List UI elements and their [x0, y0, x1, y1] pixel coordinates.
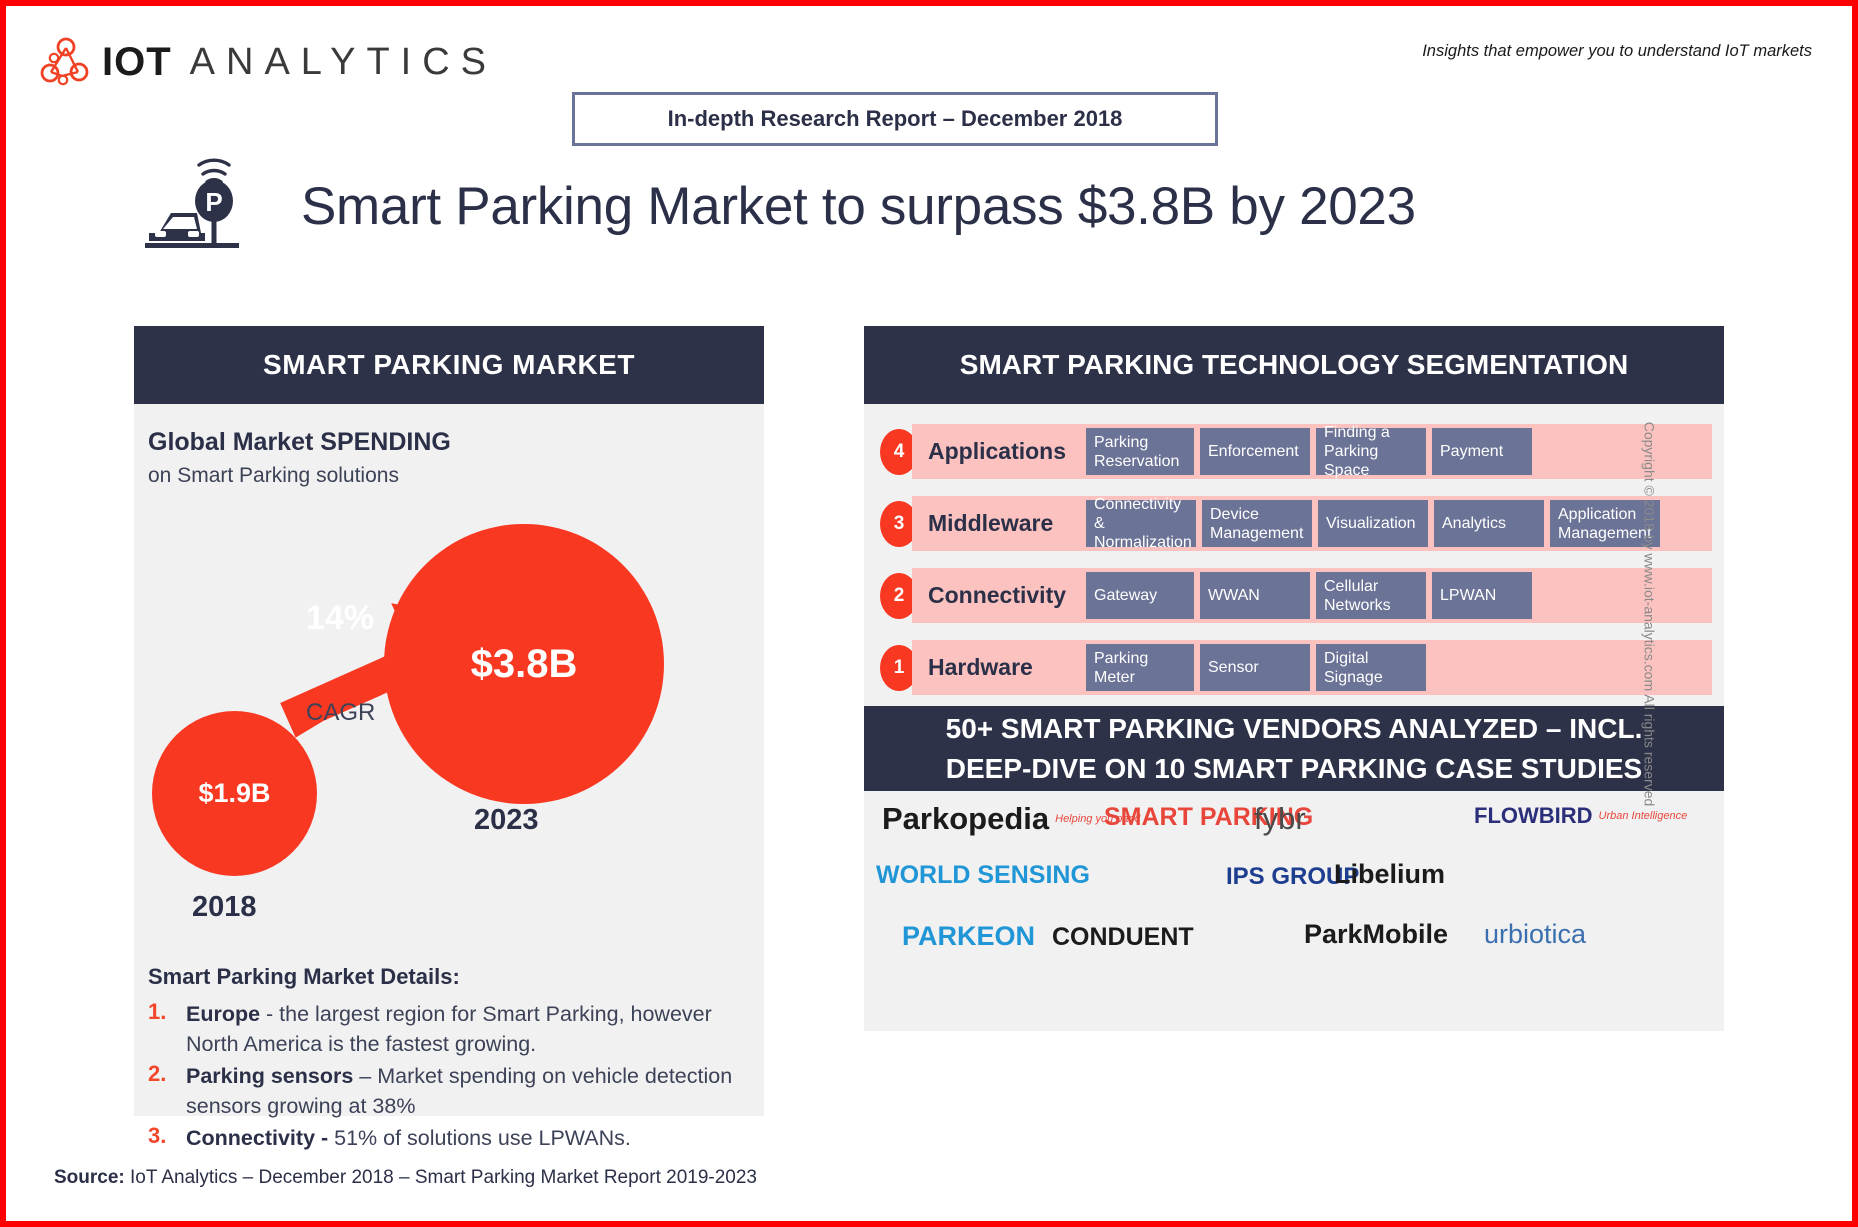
vendor-logo-grid: ParkopediaHelping you park!SMART PARKING…	[864, 791, 1724, 1031]
source-note: Source: IoT Analytics – December 2018 – …	[54, 1167, 757, 1189]
vendors-heading-line2: DEEP-DIVE ON 10 SMART PARKING CASE STUDI…	[946, 749, 1642, 789]
source-label: Source:	[54, 1167, 125, 1188]
report-badge: In-depth Research Report – December 2018	[572, 92, 1218, 146]
technology-chip[interactable]: Finding a Parking Space	[1316, 428, 1426, 475]
layer-name: Connectivity	[912, 582, 1086, 609]
vendor-logo: WORLD SENSING	[876, 861, 1090, 890]
vendor-logo: urbiotica	[1484, 919, 1586, 950]
copyright-note: Copyright © 2018 by www.iot-analytics.co…	[1642, 421, 1658, 806]
layer-name: Hardware	[912, 654, 1086, 681]
detail-number: 3.	[148, 1123, 186, 1153]
page-title: Smart Parking Market to surpass $3.8B by…	[301, 176, 1416, 237]
segmentation-row: MiddlewareConnectivity & NormalizationDe…	[912, 496, 1712, 551]
technology-chip[interactable]: LPWAN	[1432, 572, 1532, 619]
detail-text: Parking sensors – Market spending on veh…	[186, 1061, 748, 1121]
detail-item: 2.Parking sensors – Market spending on v…	[148, 1061, 748, 1121]
technology-chip[interactable]: Parking Reservation	[1086, 428, 1194, 475]
report-badge-label: In-depth Research Report – December 2018	[668, 106, 1123, 132]
vendor-logo: Libelium	[1334, 859, 1445, 890]
spending-title: Global Market SPENDING	[148, 428, 451, 457]
technology-chip[interactable]: Digital Signage	[1316, 644, 1426, 691]
right-panel-heading: SMART PARKING TECHNOLOGY SEGMENTATION	[864, 326, 1724, 404]
technology-chip[interactable]: Sensor	[1200, 644, 1310, 691]
detail-item: 3.Connectivity - 51% of solutions use LP…	[148, 1123, 748, 1153]
vendor-logo: CONDUENT	[1052, 923, 1194, 952]
vendor-logo: FLOWBIRDUrban Intelligence	[1474, 803, 1687, 829]
parking-car-sensor-icon: P	[141, 141, 261, 251]
details-list: 1.Europe - the largest region for Smart …	[148, 999, 748, 1155]
right-panel: SMART PARKING TECHNOLOGY SEGMENTATION 4A…	[864, 326, 1724, 1116]
brand-logo[interactable]: IOT ANALYTICS	[36, 34, 497, 90]
infographic-page: IOT ANALYTICS Insights that empower you …	[0, 0, 1858, 1227]
detail-text: Connectivity - 51% of solutions use LPWA…	[186, 1123, 631, 1153]
detail-number: 2.	[148, 1061, 186, 1121]
bubble-2023-year: 2023	[474, 804, 539, 837]
vendor-logo: ParkopediaHelping you park!	[882, 801, 1141, 837]
detail-number: 1.	[148, 999, 186, 1059]
technology-chip[interactable]: WWAN	[1200, 572, 1310, 619]
layer-name: Applications	[912, 438, 1086, 465]
cagr-label: CAGR	[306, 699, 375, 727]
vendor-tagline: Urban Intelligence	[1599, 810, 1688, 822]
logo-text-analytics: ANALYTICS	[190, 41, 497, 84]
left-panel-body: Global Market SPENDING on Smart Parking …	[134, 404, 764, 1116]
bubble-2018-year: 2018	[192, 891, 257, 924]
technology-chip[interactable]: Cellular Networks	[1316, 572, 1426, 619]
segmentation-row: ConnectivityGatewayWWANCellular Networks…	[912, 568, 1712, 623]
left-panel: SMART PARKING MARKET Global Market SPEND…	[134, 326, 764, 1116]
segmentation-row: ApplicationsParking ReservationEnforceme…	[912, 424, 1712, 479]
technology-chip[interactable]: Visualization	[1318, 500, 1428, 547]
spending-subtitle: on Smart Parking solutions	[148, 464, 399, 488]
vendors-heading-line1: 50+ SMART PARKING VENDORS ANALYZED – INC…	[946, 709, 1643, 749]
logo-text-iot: IOT	[102, 40, 172, 85]
detail-text: Europe - the largest region for Smart Pa…	[186, 999, 748, 1059]
cagr-value: 14%	[306, 599, 374, 638]
vendors-body: ParkopediaHelping you park!SMART PARKING…	[864, 791, 1724, 1031]
segmentation-body: 4ApplicationsParking ReservationEnforcem…	[864, 404, 1724, 716]
technology-chip[interactable]: Analytics	[1434, 500, 1544, 547]
technology-chip[interactable]: Enforcement	[1200, 428, 1310, 475]
technology-chip[interactable]: Payment	[1432, 428, 1532, 475]
detail-item: 1.Europe - the largest region for Smart …	[148, 999, 748, 1059]
source-text: IoT Analytics – December 2018 – Smart Pa…	[125, 1167, 757, 1188]
vendor-logo: ParkMobile	[1304, 919, 1448, 950]
segmentation-row: HardwareParking MeterSensorDigital Signa…	[912, 640, 1712, 695]
vendors-heading: 50+ SMART PARKING VENDORS ANALYZED – INC…	[864, 706, 1724, 791]
technology-chip[interactable]: Parking Meter	[1086, 644, 1194, 691]
left-panel-heading: SMART PARKING MARKET	[134, 326, 764, 404]
technology-chip[interactable]: Gateway	[1086, 572, 1194, 619]
vendor-logo: PARKEON	[902, 921, 1035, 952]
layer-name: Middleware	[912, 510, 1086, 537]
technology-chip[interactable]: Device Management	[1202, 500, 1312, 547]
iot-analytics-logo-icon	[36, 34, 92, 90]
details-title: Smart Parking Market Details:	[148, 964, 460, 990]
technology-chip[interactable]: Connectivity & Normalization	[1086, 500, 1196, 547]
vendor-logo: fybr	[1254, 801, 1306, 837]
brand-tagline: Insights that empower you to understand …	[1422, 42, 1812, 61]
bubble-2023-value: $3.8B	[384, 524, 664, 804]
bubble-2018-value: $1.9B	[152, 711, 317, 876]
svg-text:P: P	[205, 187, 222, 217]
